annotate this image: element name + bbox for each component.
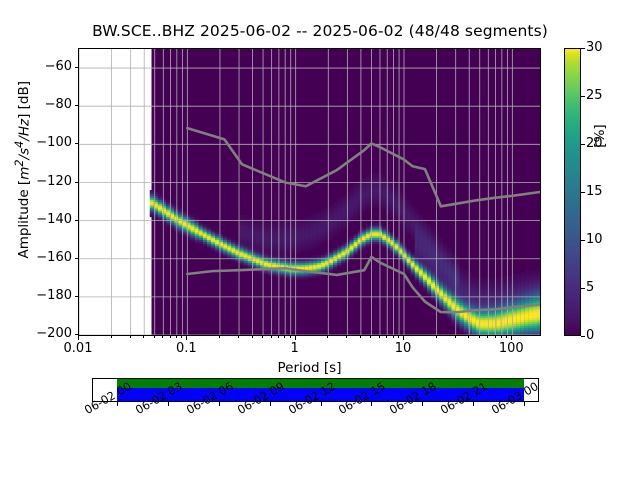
x-minor-tick bbox=[176, 336, 177, 338]
x-minor-tick bbox=[370, 336, 371, 338]
coverage-tick-mark bbox=[473, 402, 474, 406]
x-minor-tick bbox=[479, 336, 480, 338]
x-minor-tick bbox=[252, 336, 253, 338]
x-minor-tick bbox=[360, 336, 361, 338]
x-minor-tick bbox=[290, 336, 291, 338]
x-minor-tick bbox=[487, 336, 488, 338]
colorbar-tick-label: 15 bbox=[586, 184, 603, 199]
x-minor-tick bbox=[393, 336, 394, 338]
x-tick-mark bbox=[78, 336, 79, 340]
coverage-tick-mark bbox=[168, 402, 169, 406]
x-tick-label: 100 bbox=[471, 341, 551, 356]
coverage-tick-mark bbox=[270, 402, 271, 406]
y-tick-mark bbox=[75, 220, 79, 221]
x-minor-tick bbox=[170, 336, 171, 338]
colorbar-tick-label: 10 bbox=[586, 232, 603, 247]
plot-title: BW.SCE..BHZ 2025-06-02 -- 2025-06-02 (48… bbox=[0, 22, 640, 40]
colorbar-label: [%] bbox=[592, 96, 608, 176]
x-minor-tick bbox=[455, 336, 456, 338]
x-minor-tick bbox=[271, 336, 272, 338]
coverage-tick-mark bbox=[371, 402, 372, 406]
y-axis-label: Amplitude [m2/s4/Hz] [dB] bbox=[12, 30, 32, 310]
x-tick-mark bbox=[295, 336, 296, 340]
y-tick-mark bbox=[75, 334, 79, 335]
colorbar-tick-mark bbox=[581, 96, 585, 97]
x-minor-tick bbox=[386, 336, 387, 338]
x-minor-tick bbox=[436, 336, 437, 338]
colorbar-tick-mark bbox=[581, 48, 585, 49]
x-tick-mark bbox=[511, 336, 512, 340]
x-tick-label: 0.1 bbox=[146, 341, 226, 356]
ppsd-canvas bbox=[79, 49, 540, 335]
x-minor-tick bbox=[130, 336, 131, 338]
y-tick-mark bbox=[75, 182, 79, 183]
y-tick-mark bbox=[75, 143, 79, 144]
x-minor-tick bbox=[398, 336, 399, 338]
y-tick-mark bbox=[75, 296, 79, 297]
x-minor-tick bbox=[495, 336, 496, 338]
ppsd-axes bbox=[78, 48, 541, 336]
colorbar-tick-label: 30 bbox=[586, 40, 603, 55]
x-tick-label: 1 bbox=[255, 341, 335, 356]
colorbar-tick-mark bbox=[581, 144, 585, 145]
x-tick-label: 10 bbox=[363, 341, 443, 356]
x-minor-tick bbox=[111, 336, 112, 338]
x-minor-tick bbox=[262, 336, 263, 338]
y-tick-mark bbox=[75, 67, 79, 68]
colorbar-tick-label: 0 bbox=[586, 328, 594, 343]
x-minor-tick bbox=[468, 336, 469, 338]
y-tick-mark bbox=[75, 258, 79, 259]
x-minor-tick bbox=[238, 336, 239, 338]
x-minor-tick bbox=[154, 336, 155, 338]
colorbar-tick-mark bbox=[581, 192, 585, 193]
x-minor-tick bbox=[162, 336, 163, 338]
x-minor-tick bbox=[506, 336, 507, 338]
coverage-tick-mark bbox=[321, 402, 322, 406]
x-minor-tick bbox=[379, 336, 380, 338]
x-tick-label: 0.01 bbox=[38, 341, 118, 356]
x-minor-tick bbox=[501, 336, 502, 338]
y-tick-label: −200 bbox=[12, 326, 72, 341]
colorbar-tick-mark bbox=[581, 336, 585, 337]
coverage-tick-mark bbox=[422, 402, 423, 406]
colorbar-tick-label: 5 bbox=[586, 280, 594, 295]
x-minor-tick bbox=[219, 336, 220, 338]
x-tick-mark bbox=[186, 336, 187, 340]
x-minor-tick bbox=[346, 336, 347, 338]
y-tick-mark bbox=[75, 105, 79, 106]
x-minor-tick bbox=[181, 336, 182, 338]
colorbar-tick-mark bbox=[581, 240, 585, 241]
coverage-tick-mark bbox=[117, 402, 118, 406]
x-tick-mark bbox=[403, 336, 404, 340]
coverage-tick-mark bbox=[219, 402, 220, 406]
x-axis-label: Period [s] bbox=[78, 360, 541, 376]
colorbar bbox=[564, 48, 581, 336]
y-axis-label-text: Amplitude [m2/s4/Hz] [dB] bbox=[16, 81, 32, 259]
coverage-tick-mark bbox=[524, 402, 525, 406]
x-minor-tick bbox=[278, 336, 279, 338]
x-minor-tick bbox=[327, 336, 328, 338]
colorbar-tick-mark bbox=[581, 288, 585, 289]
x-minor-tick bbox=[284, 336, 285, 338]
x-minor-tick bbox=[143, 336, 144, 338]
ppsd-figure: BW.SCE..BHZ 2025-06-02 -- 2025-06-02 (48… bbox=[0, 0, 640, 480]
